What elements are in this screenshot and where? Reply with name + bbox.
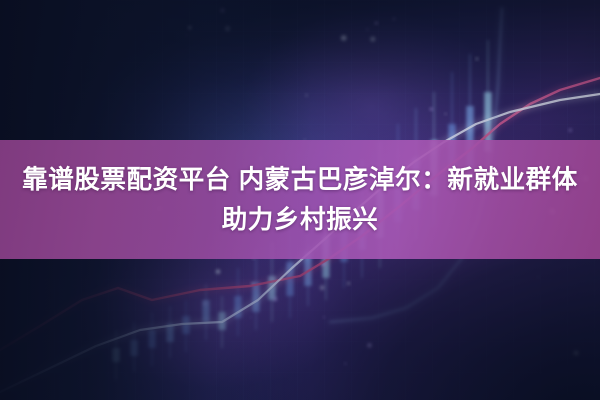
banner-artwork: 靠谱股票配资平台 内蒙古巴彦淖尔：新就业群体 助力乡村振兴 <box>0 0 600 400</box>
banner-title-line-1: 靠谱股票配资平台 内蒙古巴彦淖尔：新就业群体 <box>22 160 578 200</box>
title-banner: 靠谱股票配资平台 内蒙古巴彦淖尔：新就业群体 助力乡村振兴 <box>0 140 600 259</box>
banner-title-line-2: 助力乡村振兴 <box>222 200 379 240</box>
